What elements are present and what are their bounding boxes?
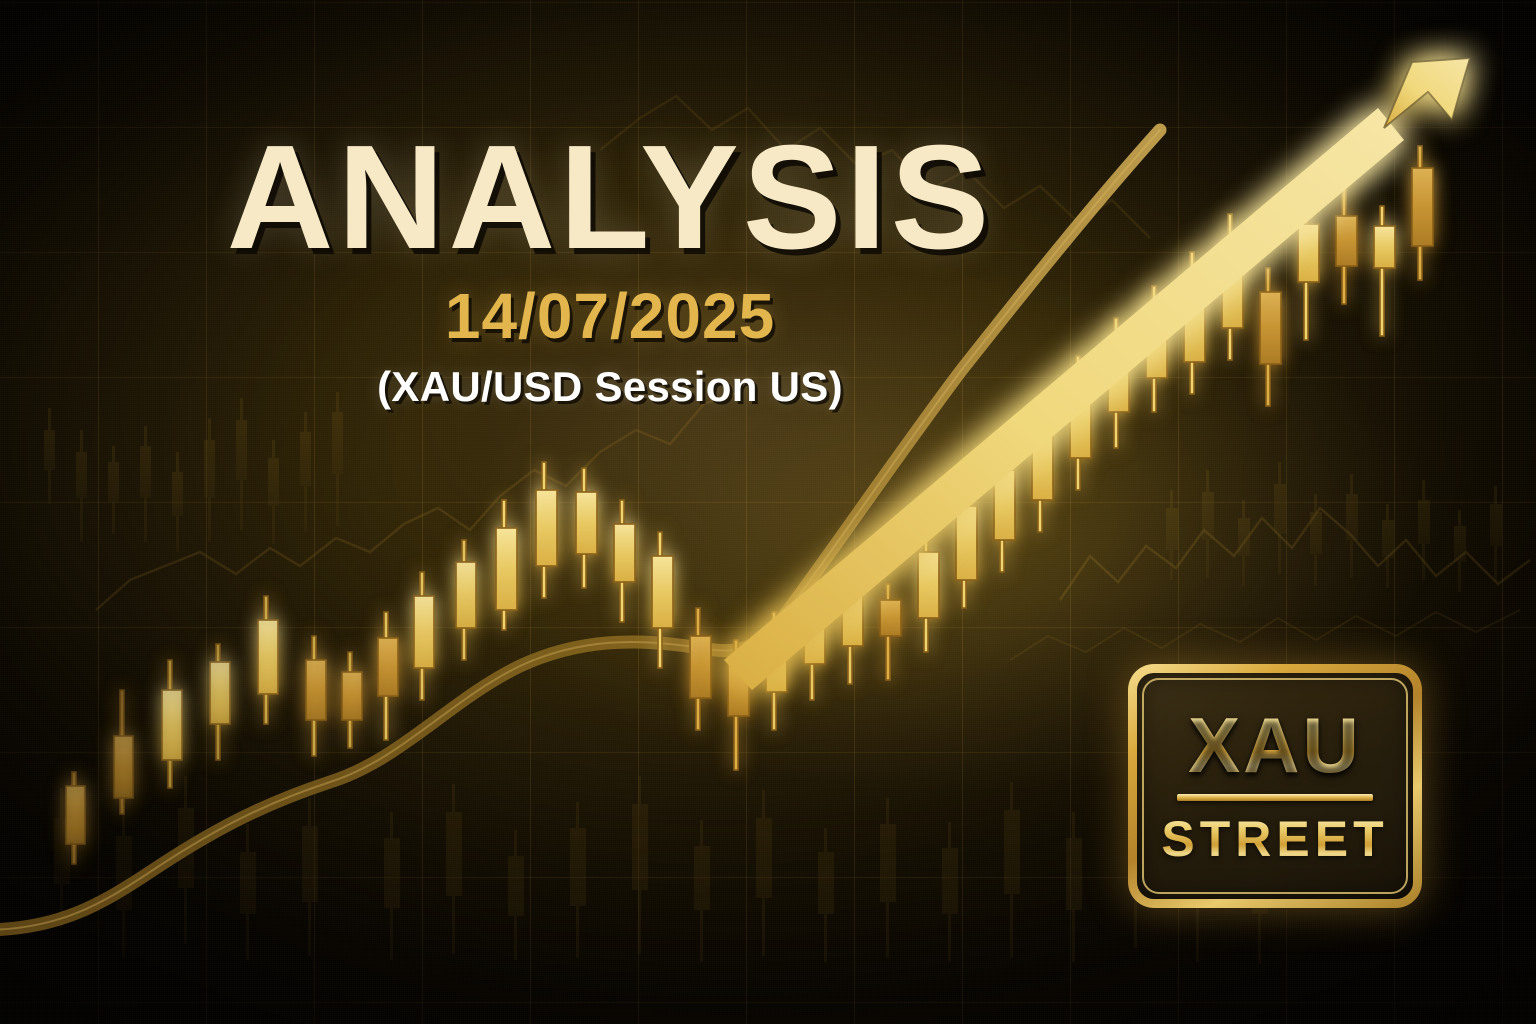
logo-bottom-text: STREET bbox=[1161, 814, 1388, 864]
logo-content: XAU STREET bbox=[1137, 673, 1413, 899]
analysis-subtitle: (XAU/USD Session US) bbox=[0, 366, 1220, 408]
logo-divider bbox=[1177, 794, 1373, 801]
page-title: ANALYSIS bbox=[0, 124, 1220, 272]
banner-canvas: ANALYSIS 14/07/2025 (XAU/USD Session US)… bbox=[0, 0, 1536, 1024]
logo-top-text: XAU bbox=[1188, 708, 1362, 783]
title-block: ANALYSIS 14/07/2025 (XAU/USD Session US) bbox=[0, 124, 1220, 408]
analysis-date: 14/07/2025 bbox=[0, 284, 1220, 348]
xau-street-logo[interactable]: XAU STREET bbox=[1128, 664, 1422, 908]
